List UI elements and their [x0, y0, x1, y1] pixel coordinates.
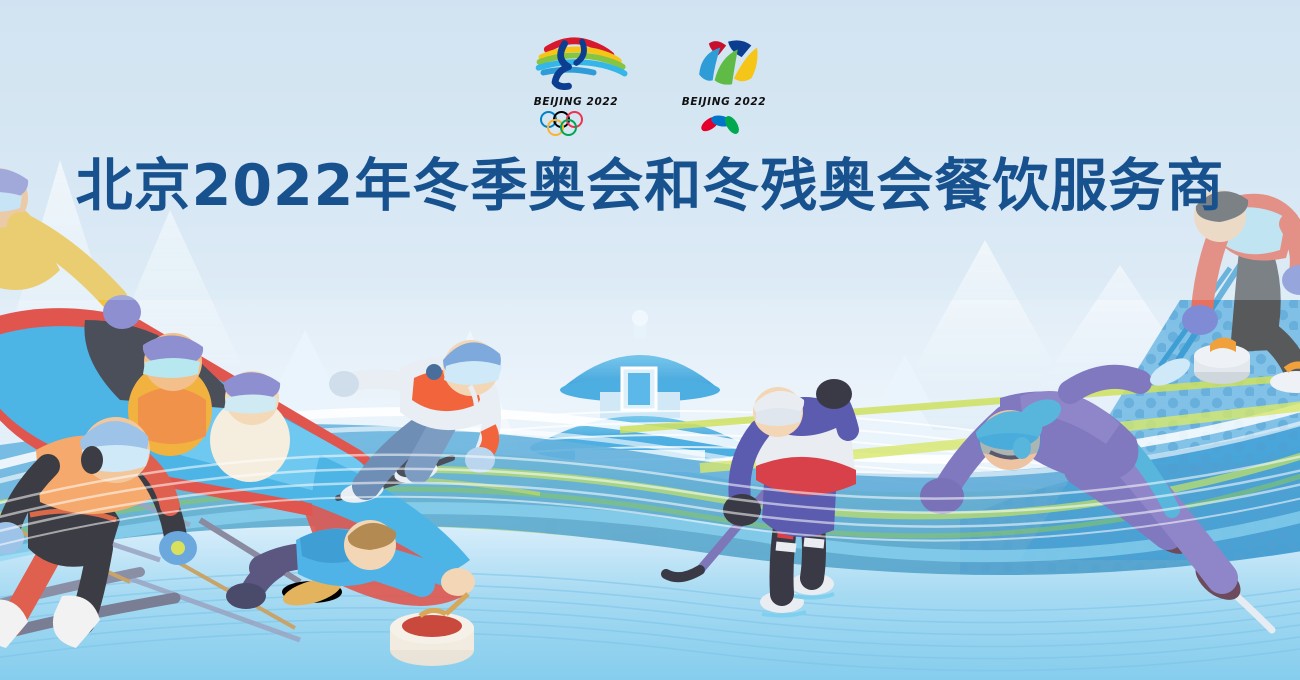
athlete-speed-skater	[920, 377, 1272, 630]
beijing-2022-catering-sponsor-banner: BEIJING 2022 BEIJING 2022	[0, 0, 1300, 680]
paralympic-wordmark: BEIJING 2022	[674, 96, 774, 108]
contour-lines-back	[200, 411, 1130, 530]
athlete-ice-hockey-player	[666, 379, 856, 616]
contour-lines-front	[0, 452, 1300, 550]
athlete-alpine-skier	[0, 417, 295, 648]
winter-dream-olympic-mark	[526, 32, 632, 90]
athlete-bobsled-team	[0, 168, 470, 640]
olympic-rings	[540, 111, 612, 135]
page-title: 北京2022年冬季奥会和冬残奥会餐饮服务商	[0, 140, 1300, 222]
halftone-dot-panel	[960, 300, 1300, 600]
pine-trees	[262, 330, 936, 475]
green-ground-band	[0, 445, 1300, 600]
beijing-2022-olympic-emblem: BEIJING 2022	[526, 32, 626, 135]
temple-of-heaven	[487, 310, 797, 567]
agitos-symbol	[698, 112, 750, 136]
flying-high-paralympic-mark	[674, 32, 780, 90]
olympic-wordmark: BEIJING 2022	[526, 96, 626, 108]
athlete-short-track-speed-skater	[329, 340, 502, 506]
ring-green	[560, 119, 577, 136]
ice-floor	[0, 525, 1300, 680]
beijing-2022-paralympic-emblem: BEIJING 2022	[674, 32, 774, 136]
flowing-ribbons	[0, 376, 1300, 560]
athlete-curler-delivering-stone	[200, 520, 475, 666]
emblem-row: BEIJING 2022 BEIJING 2022	[0, 32, 1300, 136]
blue-slope	[0, 420, 1300, 588]
